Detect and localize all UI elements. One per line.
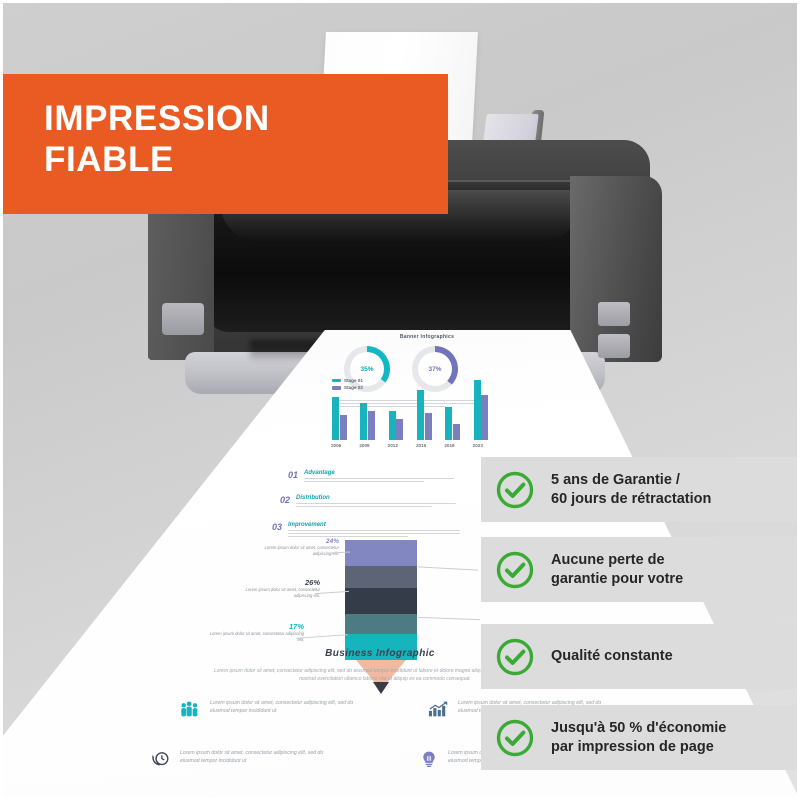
bar-2018-stage-02 (453, 424, 460, 440)
leader-line (315, 591, 349, 594)
bar-category-label: 2009 (359, 443, 369, 448)
pencil-body: Lorem ipsum dolor sit amet, consectetur … (228, 587, 320, 599)
bar-category-label: 2018 (444, 443, 454, 448)
item-number: 01 (288, 470, 298, 480)
sheet-title: Banner Infographics (372, 334, 482, 340)
feature-line-1: Qualité constante (551, 647, 673, 666)
printer-button-left[interactable] (162, 303, 204, 335)
bar-category-label: 2012 (388, 443, 398, 448)
headline-line-2: FIABLE (44, 139, 448, 180)
growth-chart-icon (428, 700, 450, 718)
feature-line-2: par impression de page (551, 738, 726, 757)
circle-check-icon (495, 550, 535, 590)
lightbulb-idea-icon (418, 750, 440, 768)
numbered-item-1: 02 Distribution (280, 495, 330, 505)
bar-category-label: 2006 (331, 443, 341, 448)
pencil-pct: 24% (253, 538, 339, 545)
promo-image: Banner Infographics 35% 37% Stage 01 (0, 0, 800, 800)
printer-left-face (148, 200, 214, 360)
printer-button-right-bottom[interactable] (598, 334, 630, 358)
pencil-pct: 17% (206, 622, 304, 631)
bar-2023-stage-01 (474, 380, 481, 440)
bar-2015-stage-02 (425, 413, 432, 440)
circle-check-icon (495, 718, 535, 758)
feature-panel-3[interactable]: Jusqu'à 50 % d'économie par impression d… (481, 705, 800, 770)
headline-line-1: IMPRESSION (44, 99, 270, 138)
feature-line-2: garantie pour votre (551, 570, 683, 589)
item-number: 03 (272, 522, 282, 532)
icon-item-0: Lorem ipsum dolor sit amet, consectetur … (180, 700, 360, 718)
item-number: 02 (280, 495, 290, 505)
printer-button-right-top[interactable] (598, 302, 630, 326)
circle-check-icon (495, 470, 535, 510)
icon-item-2: Lorem ipsum dolor sit amet, consectetur … (150, 750, 340, 768)
icon-item-text: Lorem ipsum dolor sit amet, consectetur … (210, 700, 360, 716)
pencil-lead (373, 682, 389, 694)
headline-banner: IMPRESSION FIABLE (0, 74, 448, 214)
bar-2012-stage-02 (396, 419, 403, 440)
feature-line-1: Jusqu'à 50 % d'économie (551, 719, 726, 738)
clock-phone-icon (150, 750, 172, 768)
item-title: Improvement (288, 522, 326, 528)
bar-category-label: 2015 (416, 443, 426, 448)
bar-2009-stage-02 (368, 411, 375, 440)
bar-2012-stage-01 (389, 411, 396, 440)
feature-text-2: Qualité constante (551, 647, 673, 666)
feature-text-1: Aucune perte de garantie pour votre (551, 551, 683, 588)
numbered-item-0: 01 Advantage (288, 470, 335, 480)
pencil-segment-2 (345, 566, 417, 588)
bar-2009-stage-01 (360, 403, 367, 440)
bar-2006-stage-01 (332, 397, 339, 440)
pencil-pct: 26% (228, 578, 320, 587)
feature-panel-0[interactable]: 5 ans de Garantie / 60 jours de rétracta… (481, 457, 800, 522)
pencil-body: Lorem ipsum dolor sit amet, consectetur … (253, 545, 339, 557)
feature-text-3: Jusqu'à 50 % d'économie par impression d… (551, 719, 726, 756)
pencil-callout-0: 24% Lorem ipsum dolor sit amet, consecte… (253, 538, 339, 557)
feature-line-1: Aucune perte de (551, 551, 683, 570)
circle-check-icon (495, 637, 535, 677)
item-body (304, 478, 454, 484)
pencil-segment-1 (345, 540, 417, 566)
pencil-callout-2: 17% Lorem ipsum dolor sit amet, consecte… (206, 622, 304, 643)
leader-line (418, 617, 480, 620)
bar-2023-stage-02 (481, 395, 488, 440)
feature-line-2: 60 jours de rétractation (551, 490, 711, 509)
numbered-item-2: 03 Improvement (272, 522, 326, 532)
icon-item-text: Lorem ipsum dolor sit amet, consectetur … (180, 750, 340, 766)
pencil-callout-1: 26% Lorem ipsum dolor sit amet, consecte… (228, 578, 320, 599)
bar-category-label: 2023 (473, 443, 483, 448)
item-body (296, 503, 456, 509)
pencil-body: Lorem ipsum dolor sit amet, consectetur … (206, 631, 304, 643)
item-title: Distribution (296, 495, 330, 501)
bar-chart: 200620092012201520182023 (330, 372, 500, 440)
page-title: IMPRESSION FIABLE (0, 74, 448, 181)
business-title: Business Infographic (255, 648, 505, 659)
feature-panel-2[interactable]: Qualité constante (481, 624, 800, 689)
feature-panel-1[interactable]: Aucune perte de garantie pour votre (481, 537, 800, 602)
item-title: Advantage (304, 470, 335, 476)
people-group-icon (180, 700, 202, 718)
feature-text-0: 5 ans de Garantie / 60 jours de rétracta… (551, 471, 711, 508)
pencil-segment-3 (345, 588, 417, 614)
feature-line-1: 5 ans de Garantie / (551, 471, 711, 490)
bar-2006-stage-02 (340, 415, 347, 440)
leader-line (418, 566, 478, 570)
pencil-segment-4 (345, 614, 417, 634)
bar-2015-stage-01 (417, 390, 424, 441)
bar-2018-stage-01 (445, 407, 452, 440)
